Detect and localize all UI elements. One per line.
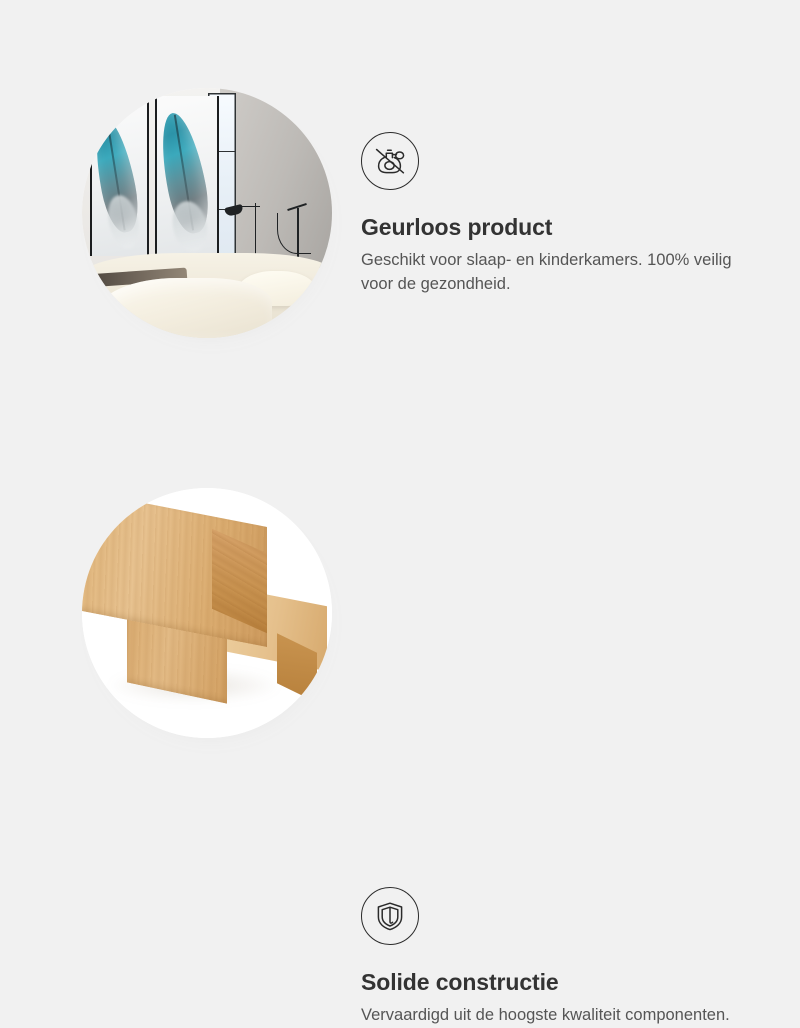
- duvet: [97, 278, 272, 338]
- wall: [220, 88, 333, 268]
- feature-title: Solide constructie: [361, 969, 761, 997]
- no-fragrance-icon: [361, 132, 419, 190]
- wall-art-panel-right: [157, 96, 217, 256]
- feature-title: Geurloos product: [361, 214, 761, 242]
- circular-image-mask: [82, 488, 332, 738]
- no-fragrance-glyph: [370, 141, 410, 181]
- feature-description: Geschikt voor slaap- en kinderkamers. 10…: [361, 249, 751, 297]
- feature-block-odourless: Geurloos product Geschikt voor slaap- en…: [0, 0, 800, 400]
- wooden-beams-scene: [82, 488, 332, 738]
- feature-image-solid-construction: [82, 488, 332, 738]
- feature-text-solid-construction: Solide constructie Vervaardigd uit de ho…: [361, 887, 761, 1028]
- feature-text-odourless: Geurloos product Geschikt voor slaap- en…: [361, 132, 761, 296]
- product-feature-panel: Geurloos product Geschikt voor slaap- en…: [0, 0, 800, 800]
- feature-description: Vervaardigd uit de hoogste kwaliteit com…: [361, 1004, 751, 1028]
- shield-glyph: [370, 896, 410, 936]
- feature-image-odourless: [82, 88, 332, 338]
- circular-image-mask: [82, 88, 332, 338]
- wall-art-panel-left: [92, 96, 147, 256]
- feature-block-solid-construction: Solide constructie Vervaardigd uit de ho…: [0, 400, 800, 800]
- bedroom-scene: [82, 88, 332, 338]
- shield-icon: [361, 887, 419, 945]
